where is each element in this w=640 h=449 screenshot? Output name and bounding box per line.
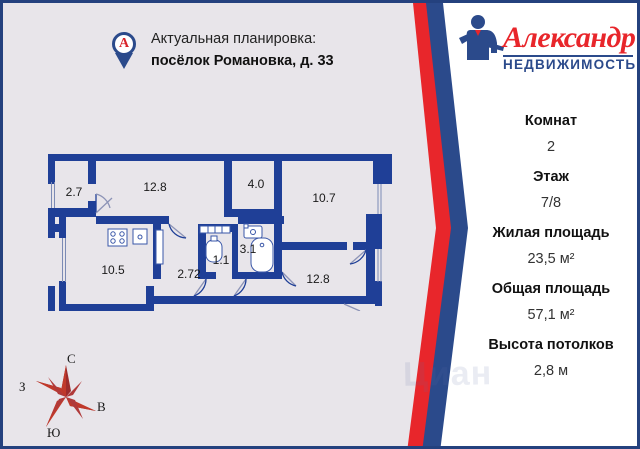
room-area-living-room: 12.8 [143, 180, 167, 194]
total-area-label: Общая площадь [463, 281, 639, 297]
logo-subtitle: НЕДВИЖИМОСТЬ [503, 57, 636, 72]
room-area-bedroom-1: 10.7 [312, 191, 336, 205]
room-area-bathroom: 3.1 [240, 242, 257, 256]
logo-brand-name: Александр [503, 21, 635, 55]
address-header: A Актуальная планировка: посёлок Романов… [110, 31, 410, 83]
floorplan-drawing: 2.712.810.52.721.13.14.010.712.8 [48, 146, 398, 311]
floorplan-listing-card: A Актуальная планировка: посёлок Романов… [0, 0, 640, 449]
map-pin-tail [115, 53, 133, 69]
compass-north-label: С [67, 351, 76, 367]
header-address: посёлок Романовка, д. 33 [151, 53, 334, 69]
stove-icon [108, 229, 127, 246]
realtor-figure-icon [455, 13, 507, 71]
counter-icon [156, 230, 163, 264]
room-area-bedroom-2: 12.8 [306, 272, 330, 286]
header-subtitle: Актуальная планировка: [151, 31, 316, 47]
rooms-value: 2 [463, 139, 639, 155]
room-area-corridor: 4.0 [248, 177, 265, 191]
living-area-label: Жилая площадь [463, 225, 639, 241]
company-logo: Александр НЕДВИЖИМОСТЬ [455, 11, 635, 89]
rooms-label: Комнат [463, 113, 639, 129]
room-area-kitchen: 10.5 [101, 263, 125, 277]
room-area-balcony: 2.7 [66, 185, 83, 199]
map-pin-icon: A [110, 31, 140, 75]
watermark: Циан [403, 354, 493, 395]
property-details-list: Комнат 2 Этаж 7/8 Жилая площадь 23,5 м² … [463, 113, 639, 379]
room-area-toilet: 1.1 [213, 253, 230, 267]
ceiling-height-label: Высота потолков [463, 337, 639, 353]
compass-west-label: З [19, 379, 26, 395]
floor-label: Этаж [463, 169, 639, 185]
compass-south-label: Ю [47, 425, 60, 441]
total-area-value: 57,1 м² [463, 307, 639, 323]
compass-east-label: В [97, 399, 106, 415]
compass-rose: С В Ю З [19, 351, 114, 443]
floor-value: 7/8 [463, 195, 639, 211]
room-area-hallway: 2.72 [177, 267, 201, 281]
living-area-value: 23,5 м² [463, 251, 639, 267]
